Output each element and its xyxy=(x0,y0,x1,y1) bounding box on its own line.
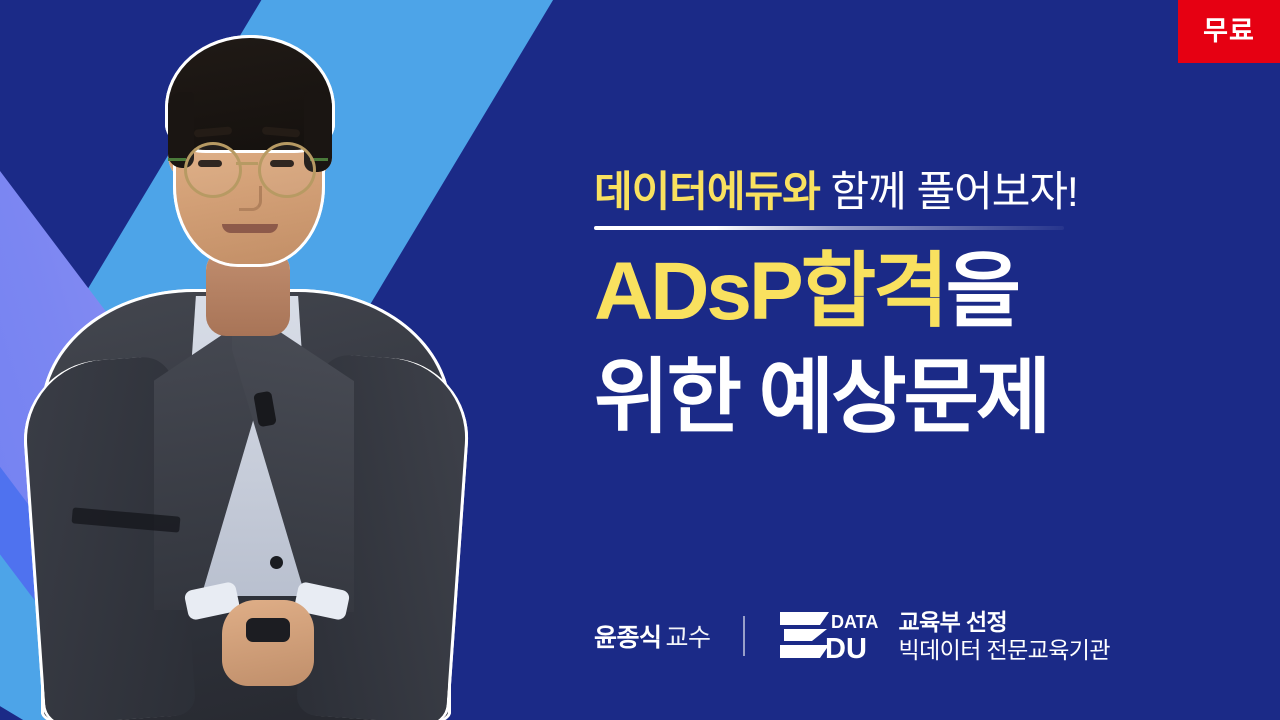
headline-line-2: 위한 예상문제 xyxy=(594,354,1254,442)
speaker-hands xyxy=(222,600,314,686)
brand-lockup: DATA DU 교육부 선정 빅데이터 전문교육기관 xyxy=(777,608,1110,664)
eyebrow-line: 데이터에듀와 함께 풀어보자! xyxy=(594,168,1254,215)
dataedu-logo-icon: DATA DU xyxy=(777,608,883,664)
free-badge-label: 무료 xyxy=(1203,18,1255,45)
speaker-jacket-button xyxy=(270,556,283,569)
headline-line2-text: 위한 예상문제 xyxy=(594,352,1048,443)
glasses-bridge xyxy=(236,162,258,165)
presenter-title: 교수 xyxy=(666,624,711,652)
presenter-credit: 윤종식교수 xyxy=(594,618,711,654)
headline-line-1: ADsP합격을 xyxy=(594,248,1254,336)
speaker-nose xyxy=(239,186,262,211)
speaker-mouth xyxy=(222,224,278,233)
brand-tagline-line2: 빅데이터 전문교육기관 xyxy=(899,636,1110,664)
speaker-wristwatch xyxy=(246,618,290,642)
headline-line1-plain-text: 을 xyxy=(946,246,1018,337)
credit-divider xyxy=(743,616,745,656)
brand-tagline: 교육부 선정 빅데이터 전문교육기관 xyxy=(899,608,1110,664)
eyebrow-plain-text: 함께 풀어보자! xyxy=(820,168,1078,215)
logo-data-text: DATA xyxy=(831,612,878,632)
credit-bar: 윤종식교수 DATA DU 교육부 선정 빅데이터 전문교육기관 xyxy=(594,604,1110,668)
glasses-arm-left xyxy=(168,158,186,161)
speaker-figure xyxy=(8,0,528,720)
eyebrow-accent-text: 데이터에듀와 xyxy=(594,168,820,215)
headline-accent-text: ADsP합격 xyxy=(594,246,946,337)
free-badge: 무료 xyxy=(1178,0,1280,63)
course-thumbnail: 무료 데이터에듀와 함께 풀어보자! ADsP합격을 위한 예상문제 윤종식교수 xyxy=(0,0,1280,720)
headline-underline-rule xyxy=(594,226,1064,230)
speaker-photo xyxy=(8,0,528,720)
headline-block: 데이터에듀와 함께 풀어보자! ADsP합격을 위한 예상문제 xyxy=(594,168,1254,442)
glasses-lens-left xyxy=(184,142,242,198)
logo-du-text: DU xyxy=(825,633,867,664)
presenter-name: 윤종식 xyxy=(594,624,662,652)
brand-tagline-line1: 교육부 선정 xyxy=(899,608,1110,636)
glasses-lens-right xyxy=(258,142,316,198)
